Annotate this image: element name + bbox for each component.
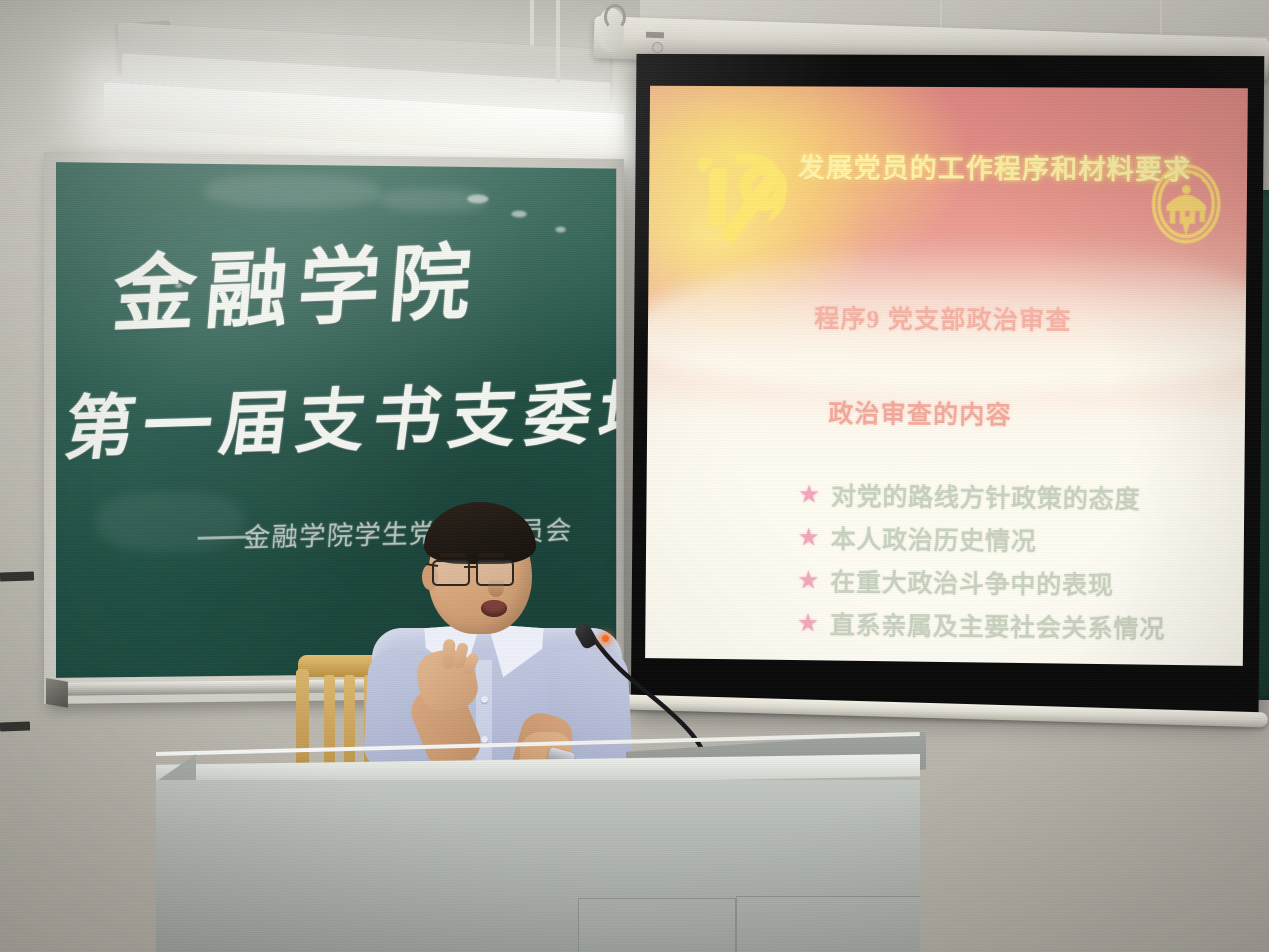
mic-power-led [602,635,609,642]
projection-screen: 发展党员的工作程序和材料要求 程序9 党支部政治审查 政治审查的内容 ★ 对党的… [631,54,1264,714]
slide-heading: 程序9 党支部政治审查 [814,299,1072,337]
list-item: ★ 本人政治历史情况 [797,519,1226,560]
star-icon: ★ [798,482,821,507]
list-item: ★ 直系亲属及主要社会关系情况 [797,605,1226,646]
mouth [481,600,507,617]
nose [488,578,504,597]
cpc-hammer-sickle-icon [675,115,813,276]
star-icon: ★ [797,568,820,593]
glasses-lens-left [432,560,470,586]
roller-hook-icon [604,4,626,30]
blackboard-subtitle: 第一届支书支委培训会 [60,353,617,474]
wall-mark [0,571,34,581]
blackboard-title: 金融学院 [109,216,486,349]
wall-mark [0,721,30,731]
bullet-text: 在重大政治斗争中的表现 [830,563,1114,602]
list-item: ★ 在重大政治斗争中的表现 [797,562,1226,603]
slide-subheading: 政治审查的内容 [828,394,1012,432]
podium-front-panel [156,780,920,952]
projected-slide: 发展党员的工作程序和材料要求 程序9 党支部政治审查 政治审查的内容 ★ 对党的… [645,86,1248,666]
podium-panel [736,896,922,952]
star-icon: ★ [797,611,820,636]
slide-title: 发展党员的工作程序和材料要求 [798,147,1192,188]
glasses-bridge [464,566,478,568]
roller-brand-logo [646,32,664,39]
slide-bullet-list: ★ 对党的路线方针政策的态度 ★ 本人政治历史情况 ★ 在重大政治斗争中的表现 … [797,476,1227,653]
ceiling-conduit [556,0,560,82]
fluorescent-light-fixture [98,14,628,154]
star-icon: ★ [797,525,820,550]
chalk-tray-endcap [46,678,68,708]
bullet-text: 本人政治历史情况 [831,520,1037,558]
podium-panel [578,898,736,952]
bullet-text: 直系亲属及主要社会关系情况 [830,606,1165,646]
classroom-photo-scene: 金融学院 第一届支书支委培训会 金融学院学生党总支委员会 [0,0,1269,952]
list-item: ★ 对党的路线方针政策的态度 [798,476,1227,517]
podium [156,732,920,952]
bullet-text: 对党的路线方针政策的态度 [831,477,1141,516]
